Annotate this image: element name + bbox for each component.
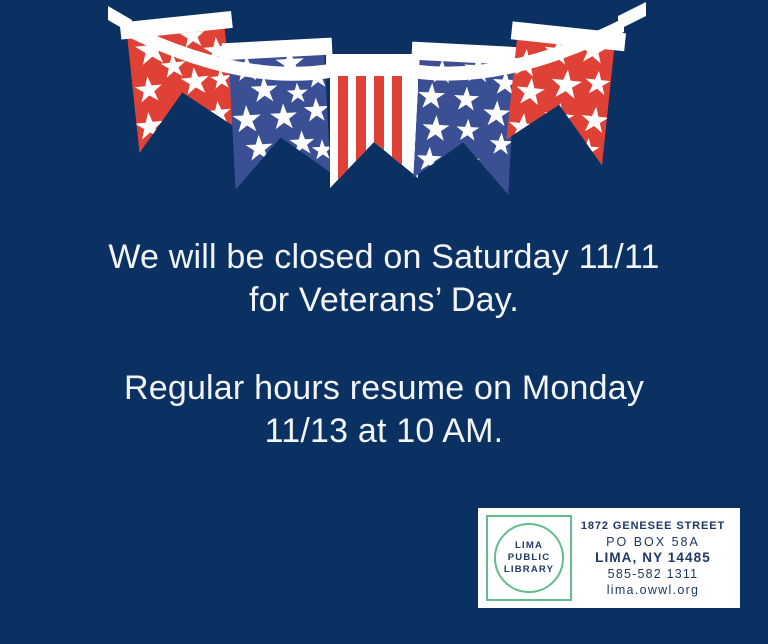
message-line-4: 11/13 at 10 AM. <box>0 410 768 453</box>
patriotic-bunting-graphic <box>0 0 768 200</box>
logo-line-3: LIBRARY <box>504 564 554 576</box>
library-address-block: 1872 GENESEE STREET PO BOX 58A LIMA, NY … <box>572 518 732 598</box>
message-spacer <box>0 322 768 367</box>
closure-announcement-poster: We will be closed on Saturday 11/11 for … <box>0 0 768 644</box>
address-website: lima.owwl.org <box>576 582 730 598</box>
address-po-box: PO BOX 58A <box>576 534 730 550</box>
message-line-1: We will be closed on Saturday 11/11 <box>0 236 768 279</box>
logo-circle-icon: LIMA PUBLIC LIBRARY <box>494 523 564 593</box>
address-city-state-zip: LIMA, NY 14485 <box>576 550 730 566</box>
address-phone: 585-582 1311 <box>576 566 730 582</box>
library-info-card: LIMA PUBLIC LIBRARY 1872 GENESEE STREET … <box>478 508 740 608</box>
logo-line-1: LIMA <box>515 540 543 552</box>
logo-line-2: PUBLIC <box>508 552 551 564</box>
message-line-2: for Veterans’ Day. <box>0 279 768 322</box>
address-street: 1872 GENESEE STREET <box>576 518 730 534</box>
library-logo: LIMA PUBLIC LIBRARY <box>486 515 572 601</box>
closure-message: We will be closed on Saturday 11/11 for … <box>0 236 768 453</box>
message-line-3: Regular hours resume on Monday <box>0 367 768 410</box>
